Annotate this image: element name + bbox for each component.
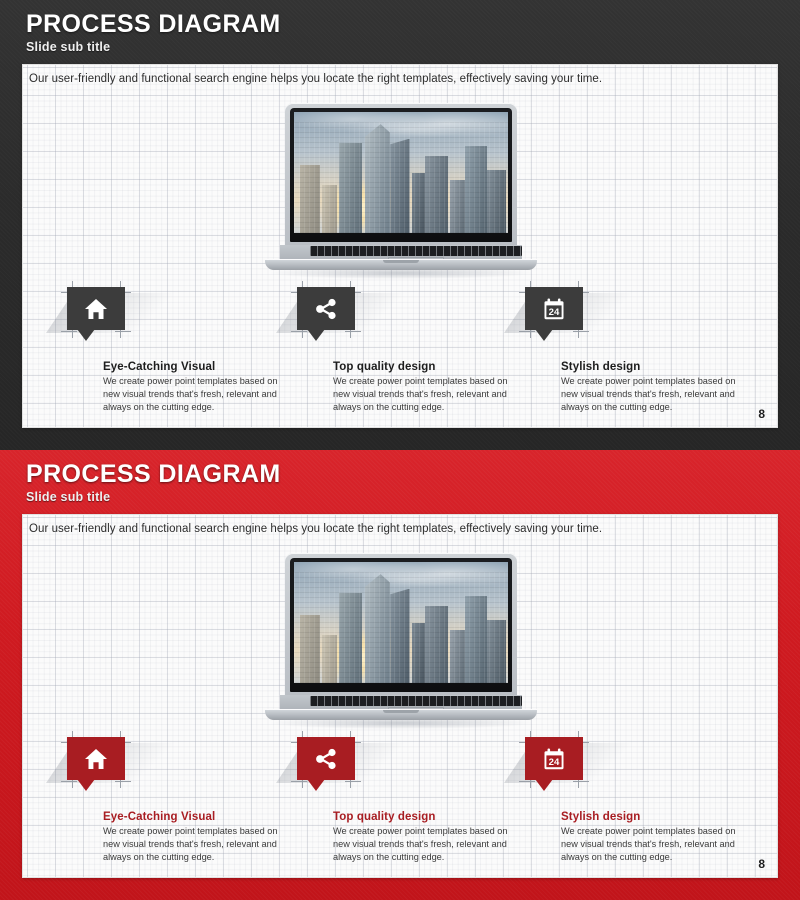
crop-mark-icon: [115, 331, 131, 332]
calendar-24-icon: 24: [542, 747, 566, 771]
feature-title: Eye-Catching Visual: [103, 811, 297, 823]
feature-title: Eye-Catching Visual: [103, 361, 297, 373]
laptop-screen: [294, 112, 508, 233]
share-icon-badge[interactable]: [297, 287, 355, 330]
feature-column-3[interactable]: 24 Stylish design We create power point …: [525, 737, 755, 864]
crop-mark-icon: [61, 781, 77, 782]
feature-title: Top quality design: [333, 361, 527, 373]
building: [450, 630, 465, 683]
feature-column-2[interactable]: Top quality design We create power point…: [297, 737, 527, 864]
content-panel-red: Our user-friendly and functional search …: [22, 514, 778, 878]
building: [465, 596, 486, 683]
crop-mark-icon: [519, 781, 535, 782]
feature-columns-dark: Eye-Catching Visual We create power poin…: [23, 287, 778, 427]
page-subtitle: Slide sub title: [26, 490, 766, 504]
slide-red: PROCESS DIAGRAM Slide sub title Our user…: [0, 450, 800, 900]
feature-column-2[interactable]: Top quality design We create power point…: [297, 287, 527, 414]
building: [425, 606, 449, 683]
laptop-city-skyline-image: [265, 553, 537, 725]
slide-header-red: PROCESS DIAGRAM Slide sub title: [26, 460, 766, 504]
laptop-deck: [280, 245, 522, 260]
calendar-24-icon-badge[interactable]: 24: [525, 287, 583, 330]
building: [300, 165, 319, 233]
intro-text: Our user-friendly and functional search …: [29, 523, 767, 535]
crop-mark-icon: [61, 331, 77, 332]
building: [339, 593, 363, 683]
page-number: 8: [758, 857, 765, 871]
building: [465, 146, 486, 233]
badge-wrap-3: 24: [525, 287, 589, 349]
laptop-base: [265, 695, 537, 725]
building: [390, 139, 409, 233]
building: [487, 170, 506, 233]
laptop-bezel: [290, 108, 512, 242]
building: [322, 185, 337, 233]
page-number: 8: [758, 407, 765, 421]
crop-mark-icon: [115, 781, 131, 782]
page-subtitle: Slide sub title: [26, 40, 766, 54]
feature-body: We create power point templates based on…: [561, 375, 741, 414]
building: [339, 143, 363, 233]
feature-column-3[interactable]: 24 Stylish design We create power point …: [525, 287, 755, 414]
share-icon-badge[interactable]: [297, 737, 355, 780]
share-icon: [315, 298, 338, 320]
building: [390, 589, 409, 683]
badge-wrap-2: [297, 287, 361, 349]
building: [412, 623, 425, 684]
speech-bubble-tail: [535, 779, 553, 791]
feature-column-1[interactable]: Eye-Catching Visual We create power poin…: [67, 287, 297, 414]
laptop-city-skyline-image: [265, 103, 537, 275]
home-icon: [84, 298, 108, 320]
crop-mark-icon: [519, 331, 535, 332]
calendar-24-icon-badge[interactable]: 24: [525, 737, 583, 780]
feature-body: We create power point templates based on…: [333, 375, 513, 414]
laptop-keyboard: [310, 246, 522, 256]
badge-wrap-3: 24: [525, 737, 589, 799]
building: [300, 615, 319, 683]
speech-bubble-tail: [307, 329, 325, 341]
home-icon-badge[interactable]: [67, 287, 125, 330]
laptop-screen: [294, 562, 508, 683]
home-icon-badge[interactable]: [67, 737, 125, 780]
crop-mark-icon: [573, 331, 589, 332]
intro-text: Our user-friendly and functional search …: [29, 73, 767, 85]
crop-mark-icon: [291, 331, 307, 332]
content-panel-dark: Our user-friendly and functional search …: [22, 64, 778, 428]
calendar-day-label: 24: [549, 757, 560, 768]
feature-title: Stylish design: [561, 361, 755, 373]
laptop-bezel: [290, 558, 512, 692]
crop-mark-icon: [573, 781, 589, 782]
building: [365, 574, 391, 683]
speech-bubble-tail: [307, 779, 325, 791]
crop-mark-icon: [345, 331, 361, 332]
slide-header-dark: PROCESS DIAGRAM Slide sub title: [26, 10, 766, 54]
laptop-lid: [285, 103, 517, 249]
building: [412, 173, 425, 234]
calendar-24-icon: 24: [542, 297, 566, 321]
feature-column-1[interactable]: Eye-Catching Visual We create power poin…: [67, 737, 297, 864]
feature-body: We create power point templates based on…: [103, 825, 283, 864]
laptop-base: [265, 245, 537, 275]
feature-body: We create power point templates based on…: [103, 375, 283, 414]
building: [450, 180, 465, 233]
building: [487, 620, 506, 683]
feature-body: We create power point templates based on…: [561, 825, 741, 864]
slide-dark: PROCESS DIAGRAM Slide sub title Our user…: [0, 0, 800, 450]
page-title: PROCESS DIAGRAM: [26, 460, 766, 488]
feature-title: Top quality design: [333, 811, 527, 823]
laptop-lid: [285, 553, 517, 699]
badge-wrap-2: [297, 737, 361, 799]
building: [365, 124, 391, 233]
laptop-latch-notch: [383, 710, 419, 713]
speech-bubble-tail: [77, 329, 95, 341]
crop-mark-icon: [345, 781, 361, 782]
laptop-latch-notch: [383, 260, 419, 263]
building: [322, 635, 337, 683]
feature-columns-red: Eye-Catching Visual We create power poin…: [23, 737, 778, 877]
speech-bubble-tail: [535, 329, 553, 341]
badge-wrap-1: [67, 287, 131, 349]
calendar-day-label: 24: [549, 307, 560, 318]
home-icon: [84, 748, 108, 770]
feature-body: We create power point templates based on…: [333, 825, 513, 864]
share-icon: [315, 748, 338, 770]
crop-mark-icon: [291, 781, 307, 782]
speech-bubble-tail: [77, 779, 95, 791]
laptop-deck: [280, 695, 522, 710]
page-title: PROCESS DIAGRAM: [26, 10, 766, 38]
laptop-keyboard: [310, 696, 522, 706]
building: [425, 156, 449, 233]
feature-title: Stylish design: [561, 811, 755, 823]
badge-wrap-1: [67, 737, 131, 799]
